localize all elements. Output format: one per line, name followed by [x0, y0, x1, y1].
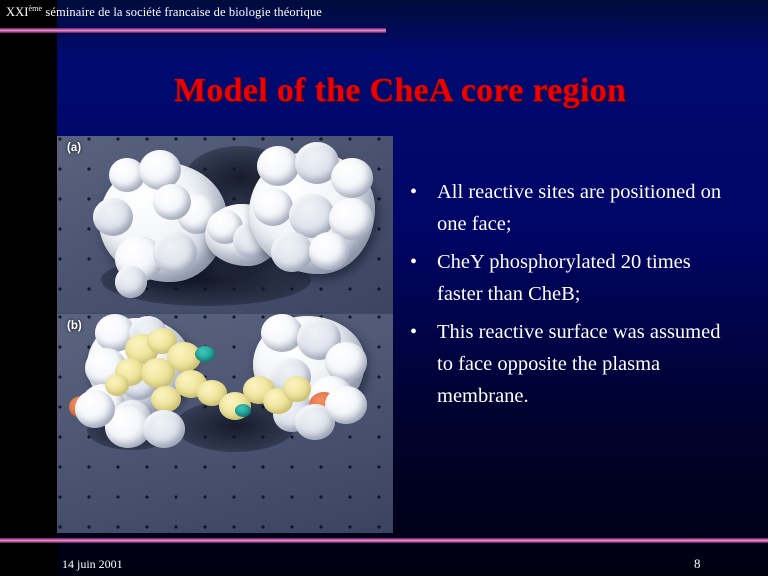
- molecule-lump: [143, 410, 185, 448]
- header-rest: séminaire de la société francaise de bio…: [42, 5, 322, 19]
- slide-header: XXIème séminaire de la société francaise…: [6, 4, 322, 20]
- header-superscript: ème: [29, 4, 43, 13]
- figure-panel-a: (a): [57, 136, 393, 313]
- molecule-lump: [331, 158, 373, 198]
- figure-photograph: (a): [57, 136, 393, 533]
- bullet-text: This reactive surface was assumed to fac…: [437, 321, 720, 407]
- molecule-lump: [75, 390, 115, 428]
- header-prefix: XXI: [6, 5, 29, 19]
- molecule-lump: [153, 184, 191, 220]
- bullet-text: CheY phosphorylated 20 times faster than…: [437, 251, 691, 305]
- presentation-slide: XXIème séminaire de la société francaise…: [0, 0, 768, 576]
- highlight-teal-site: [235, 404, 251, 417]
- molecule-lump: [115, 266, 147, 298]
- footer-date: 14 juin 2001: [62, 557, 123, 572]
- highlight-yellow-patch: [283, 376, 311, 402]
- panel-a-label: (a): [67, 142, 81, 154]
- bullet-item: • This reactive surface was assumed to f…: [404, 316, 724, 412]
- figure-panel-b: (b): [57, 314, 393, 533]
- bullet-marker-icon: •: [410, 246, 417, 278]
- molecule-lump: [325, 386, 367, 424]
- highlight-teal-site: [195, 346, 215, 362]
- molecule-lump: [271, 232, 313, 272]
- bullet-text: All reactive sites are positioned on one…: [437, 181, 721, 235]
- left-black-margin: [0, 0, 57, 576]
- footer-page-number: 8: [694, 556, 701, 572]
- molecule-lump: [93, 198, 133, 236]
- molecule-lump: [257, 146, 299, 186]
- highlight-yellow-patch: [105, 374, 129, 396]
- bullet-item: • CheY phosphorylated 20 times faster th…: [404, 246, 724, 310]
- bullet-marker-icon: •: [410, 176, 417, 208]
- footer-divider-rule: [0, 538, 768, 543]
- panel-b-label: (b): [67, 320, 82, 332]
- bullet-list: • All reactive sites are positioned on o…: [404, 176, 724, 418]
- molecule-lump: [153, 232, 197, 274]
- bullet-item: • All reactive sites are positioned on o…: [404, 176, 724, 240]
- bullet-marker-icon: •: [410, 316, 417, 348]
- slide-title: Model of the CheA core region: [120, 72, 680, 110]
- molecule-lump: [309, 232, 349, 270]
- highlight-yellow-patch: [151, 386, 181, 412]
- header-divider-rule: [0, 28, 386, 33]
- molecule-lump: [253, 188, 293, 226]
